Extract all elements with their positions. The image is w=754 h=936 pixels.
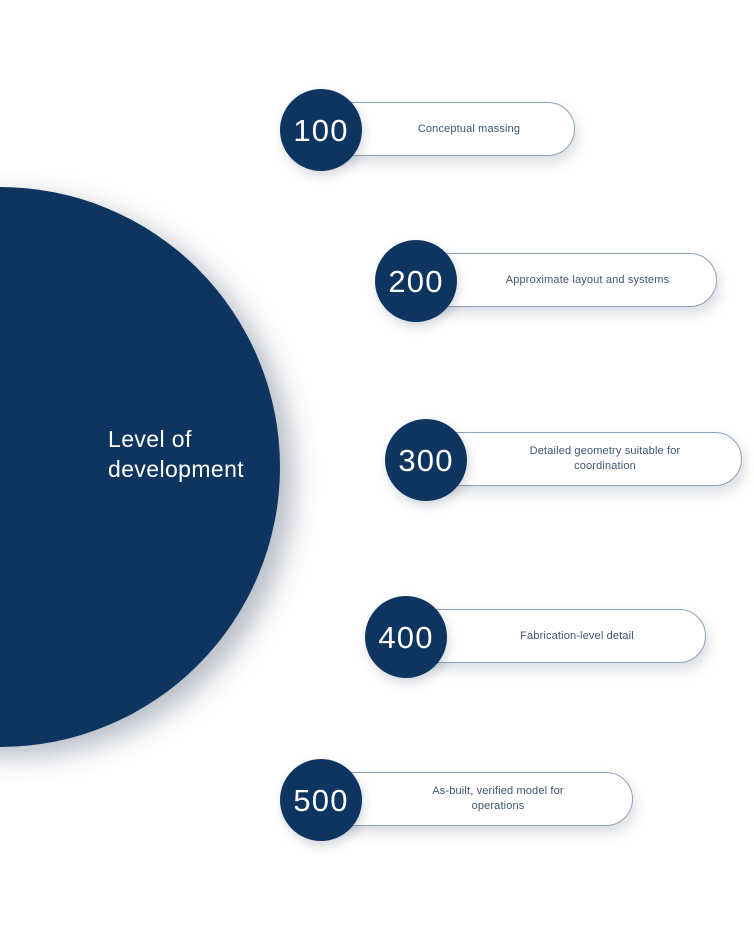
level-number-badge[interactable]: 400 <box>365 596 447 678</box>
level-number: 300 <box>398 445 453 476</box>
level-description-pill[interactable]: Conceptual massing <box>325 102 575 156</box>
level-number-badge[interactable]: 300 <box>385 419 467 501</box>
page-title: Level of development <box>108 424 298 485</box>
level-description-pill[interactable]: Approximate layout and systems <box>420 253 717 307</box>
level-description-label: Fabrication-level detail <box>477 629 677 644</box>
level-description-label: Detailed geometry suitable for coordinat… <box>505 444 705 473</box>
level-description-label: As-built, verified model for operations <box>403 784 593 813</box>
infographic-canvas: Level of development Conceptual massing1… <box>0 0 754 936</box>
level-description-label: Conceptual massing <box>384 122 554 137</box>
level-number: 500 <box>293 785 348 816</box>
level-row[interactable]: Conceptual massing100 <box>280 89 362 171</box>
level-number-badge[interactable]: 200 <box>375 240 457 322</box>
level-number: 100 <box>293 115 348 146</box>
level-number: 200 <box>388 266 443 297</box>
level-number-badge[interactable]: 500 <box>280 759 362 841</box>
level-row[interactable]: Fabrication-level detail400 <box>365 596 447 678</box>
level-description-pill[interactable]: Detailed geometry suitable for coordinat… <box>430 432 742 486</box>
level-row[interactable]: Detailed geometry suitable for coordinat… <box>385 419 467 501</box>
level-description-pill[interactable]: As-built, verified model for operations <box>325 772 633 826</box>
level-row[interactable]: As-built, verified model for operations5… <box>280 759 362 841</box>
level-description-label: Approximate layout and systems <box>473 273 702 288</box>
level-description-pill[interactable]: Fabrication-level detail <box>410 609 706 663</box>
level-number: 400 <box>378 622 433 653</box>
level-number-badge[interactable]: 100 <box>280 89 362 171</box>
level-row[interactable]: Approximate layout and systems200 <box>375 240 457 322</box>
